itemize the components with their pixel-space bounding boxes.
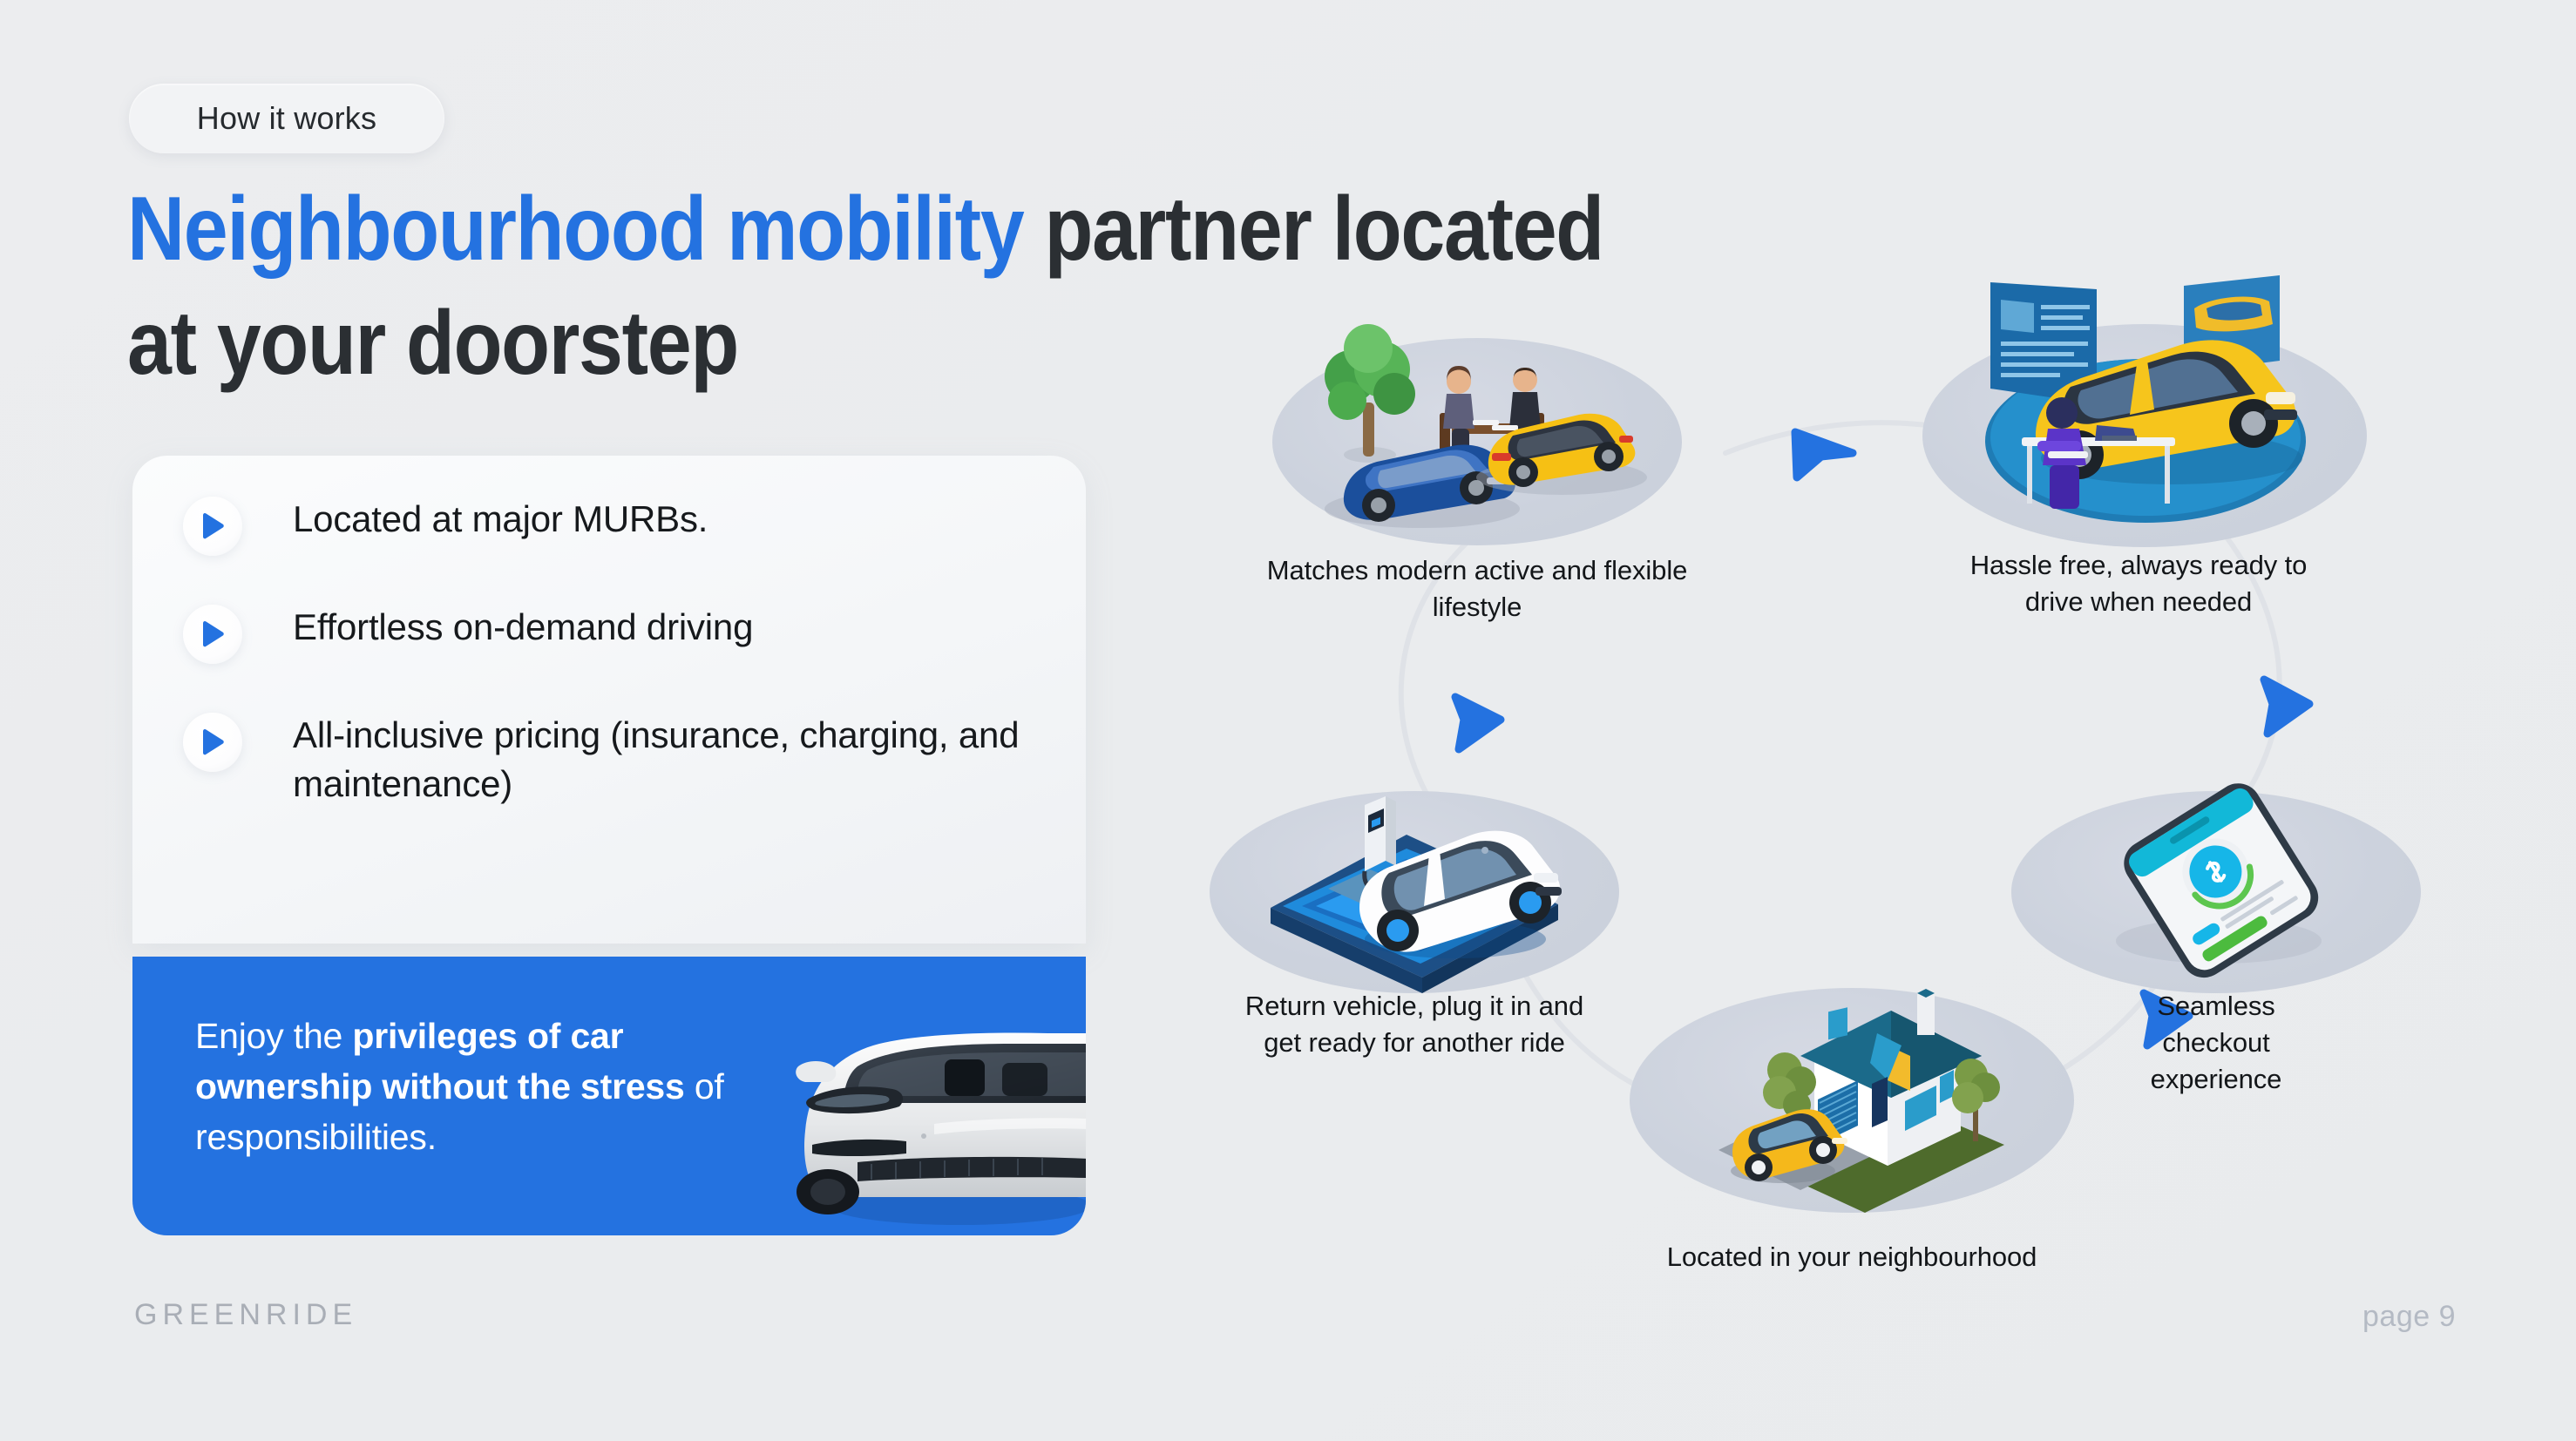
house-driveway-yellow-car-icon [1630, 965, 2074, 1227]
features-list: Located at major MURBs. Effortless on-de… [132, 495, 1086, 808]
brand-logo: GREENRIDE [134, 1298, 357, 1332]
white-ev-charging-station-icon [1210, 775, 1619, 1002]
list-item: Effortless on-demand driving [132, 603, 1086, 664]
list-item: Located at major MURBs. [132, 495, 1086, 556]
arrow-right-upper [2264, 680, 2309, 734]
people-table-two-cars-tree-icon [1272, 291, 1682, 552]
list-item-label: Effortless on-demand driving [293, 603, 753, 652]
yellow-car-desk-screens-icon [1917, 270, 2370, 549]
cycle-node-matches-lifestyle: Matches modern active and flexible lifes… [1272, 291, 1682, 578]
cycle-node-return-vehicle: Return vehicle, plug it in and get ready… [1210, 775, 1619, 1063]
promo-text: Enjoy the privileges of car ownership wi… [195, 1011, 753, 1163]
list-item-label: All-inclusive pricing (insurance, chargi… [293, 711, 1042, 808]
arrow-left [1455, 697, 1501, 749]
how-it-works-cycle: Matches modern active and flexible lifes… [1168, 348, 2545, 1333]
play-triangle-icon [183, 713, 242, 772]
play-triangle-icon [183, 497, 242, 556]
node-caption: Matches modern active and flexible lifes… [1264, 552, 1691, 626]
arrow-top-left-pointing [1795, 432, 1853, 477]
promo-lead: Enjoy the [195, 1016, 352, 1056]
node-caption: Located in your neighbourhood [1612, 1239, 2091, 1275]
cycle-node-located-neighbourhood: Located in your neighbourhood [1630, 965, 2074, 1262]
headline-rest: partner located [1023, 179, 1603, 280]
list-item: All-inclusive pricing (insurance, chargi… [132, 711, 1086, 808]
node-caption: Seamless checkout experience [2107, 988, 2325, 1098]
white-car-illustration [760, 983, 1086, 1235]
badge-label: How it works [197, 100, 376, 137]
promo-banner: Enjoy the privileges of car ownership wi… [132, 957, 1086, 1235]
slide-root: How it works Neighbourhood mobility part… [0, 0, 2576, 1441]
how-it-works-badge: How it works [129, 84, 444, 153]
node-caption: Return vehicle, plug it in and get ready… [1236, 988, 1593, 1061]
list-item-label: Located at major MURBs. [293, 495, 708, 544]
node-caption: Hassle free, always ready to drive when … [1943, 547, 2334, 620]
play-triangle-icon [183, 605, 242, 664]
headline-highlight: Neighbourhood mobility [127, 179, 1023, 280]
cycle-node-hassle-free: Hassle free, always ready to drive when … [1917, 270, 2370, 584]
headline-line2: at your doorstep [127, 293, 738, 394]
